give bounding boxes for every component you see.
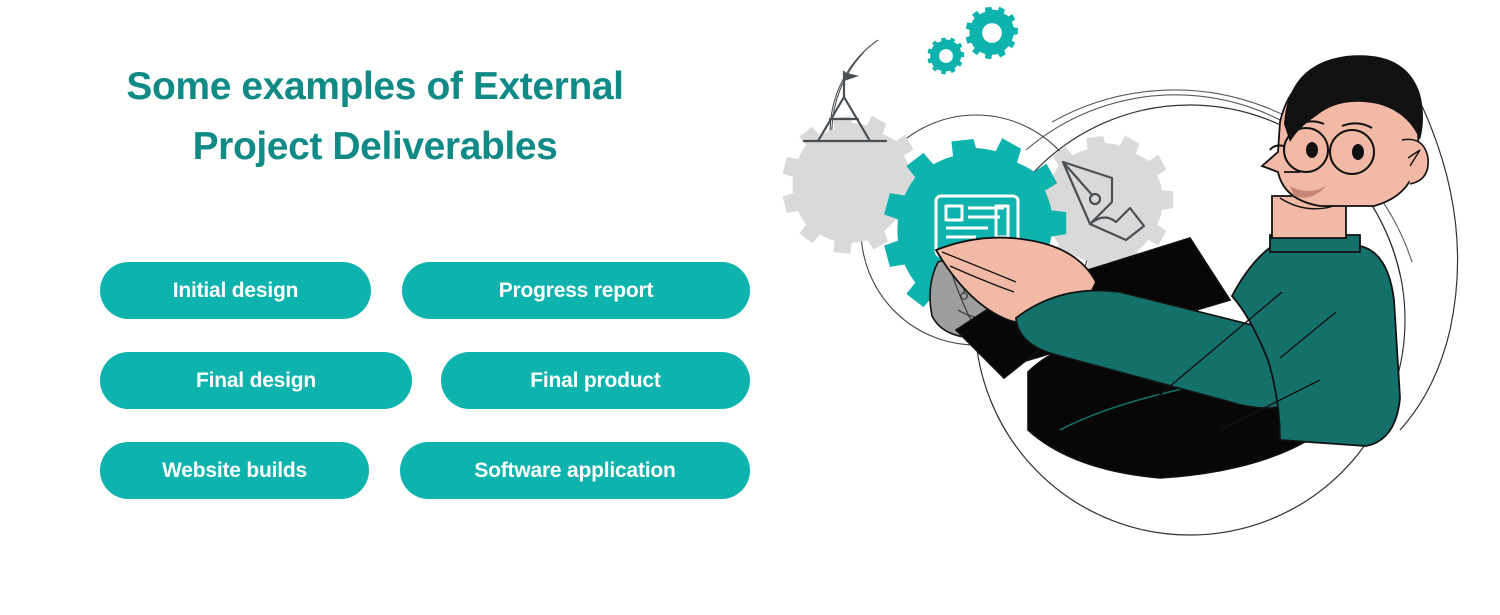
deliverables-row-1: Initial design Progress report xyxy=(0,262,770,319)
deliverable-pill-final-design[interactable]: Final design xyxy=(100,352,412,409)
small-gear-lower xyxy=(928,38,965,75)
slide-canvas: Some examples of External Project Delive… xyxy=(0,0,1500,615)
page-title-line-2: Project Deliverables xyxy=(55,117,695,177)
deliverable-pill-progress-report[interactable]: Progress report xyxy=(402,262,750,319)
deliverables-row-3: Website builds Software application xyxy=(0,442,770,499)
small-gear-upper xyxy=(966,7,1018,59)
deliverable-pill-final-product[interactable]: Final product xyxy=(441,352,750,409)
page-title-line-1: Some examples of External xyxy=(55,57,695,117)
deliverable-pill-website-builds[interactable]: Website builds xyxy=(100,442,369,499)
deliverables-row-2: Final design Final product xyxy=(0,352,770,409)
person-eye-right xyxy=(1352,144,1364,160)
deliverable-pill-software-application[interactable]: Software application xyxy=(400,442,750,499)
deliverable-pill-initial-design[interactable]: Initial design xyxy=(100,262,371,319)
text-panel: Some examples of External Project Delive… xyxy=(0,0,770,615)
deliverables-list: Initial design Progress report Final des… xyxy=(0,262,770,532)
page-title: Some examples of External Project Delive… xyxy=(55,57,695,178)
person-eye-left xyxy=(1306,142,1318,158)
hero-illustration xyxy=(760,0,1500,615)
seated-person-with-glasses xyxy=(930,55,1458,478)
